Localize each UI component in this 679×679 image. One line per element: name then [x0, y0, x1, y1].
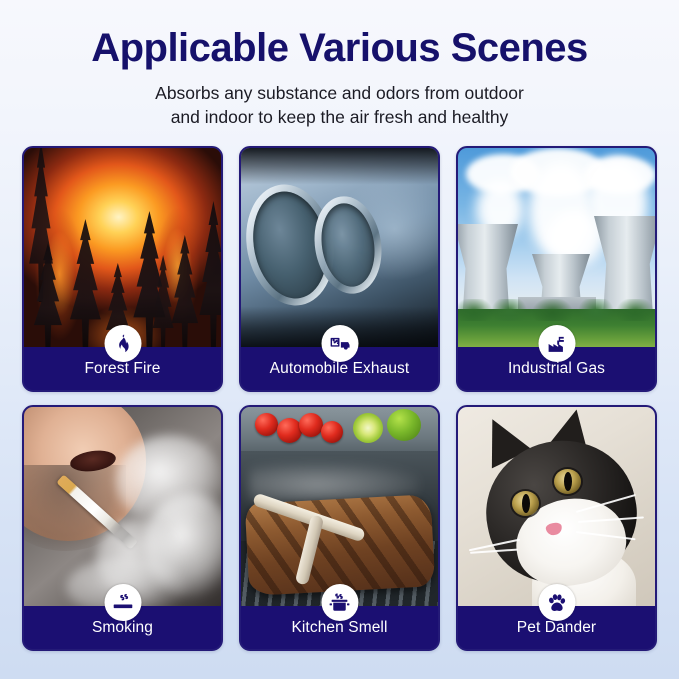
scene-photo-kitchen-smell: [241, 407, 438, 610]
scene-label-kitchen-smell: Kitchen Smell: [291, 619, 387, 637]
subtitle-line-2: and indoor to keep the air fresh and hea…: [0, 105, 679, 129]
scene-label-smoking: Smoking: [92, 619, 153, 637]
paw-print-icon: [538, 584, 575, 621]
scene-photo-smoking: [24, 407, 221, 610]
scene-card-automobile-exhaust[interactable]: Automobile Exhaust: [239, 146, 440, 392]
scene-label-automobile-exhaust: Automobile Exhaust: [270, 360, 410, 378]
scene-card-grid: Forest Fire Automobil: [22, 146, 657, 651]
scene-photo-forest-fire: [24, 148, 221, 351]
scene-card-industrial-gas[interactable]: Industrial Gas: [456, 146, 657, 392]
flame-icon: [104, 325, 141, 362]
page-subtitle: Absorbs any substance and odors from out…: [0, 81, 679, 129]
scene-card-smoking[interactable]: Smoking: [22, 405, 223, 651]
scene-card-kitchen-smell[interactable]: Kitchen Smell: [239, 405, 440, 651]
scene-label-forest-fire: Forest Fire: [84, 360, 160, 378]
scene-photo-pet-dander: [458, 407, 655, 610]
cigarette-icon: [104, 584, 141, 621]
scene-label-industrial-gas: Industrial Gas: [508, 360, 605, 378]
factory-icon: [538, 325, 575, 362]
page-title: Applicable Various Scenes: [0, 26, 679, 70]
applicable-scenes-page: Applicable Various Scenes Absorbs any su…: [0, 0, 679, 679]
scene-photo-automobile-exhaust: [241, 148, 438, 351]
cooking-pot-icon: [321, 584, 358, 621]
scene-card-pet-dander[interactable]: Pet Dander: [456, 405, 657, 651]
scene-photo-industrial-gas: [458, 148, 655, 351]
subtitle-line-1: Absorbs any substance and odors from out…: [0, 81, 679, 105]
scene-label-pet-dander: Pet Dander: [517, 619, 596, 637]
car-exhaust-icon: [321, 325, 358, 362]
header: Applicable Various Scenes Absorbs any su…: [0, 0, 679, 129]
scene-card-forest-fire[interactable]: Forest Fire: [22, 146, 223, 392]
